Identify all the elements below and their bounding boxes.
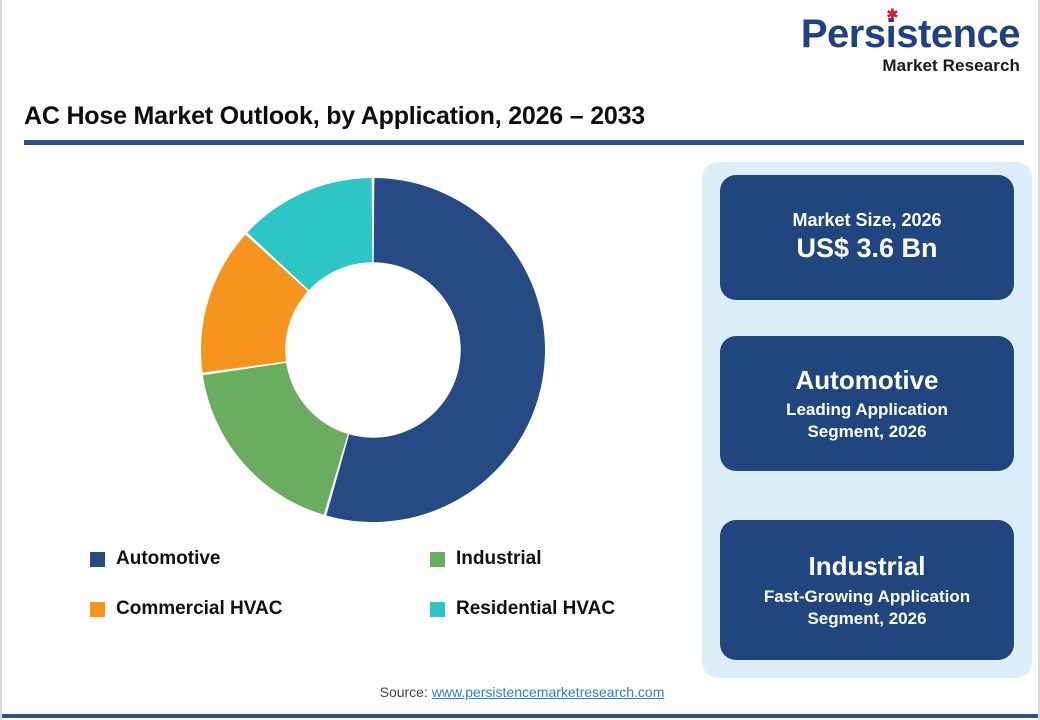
legend-swatch-automotive xyxy=(90,552,105,567)
brand-name-part1: Pers xyxy=(801,12,886,56)
brand-wordmark: Pers✱istence xyxy=(801,14,1020,54)
source-prefix: Source: xyxy=(380,684,432,700)
donut-chart xyxy=(201,178,545,522)
legend-label-residential-hvac: Residential HVAC xyxy=(456,598,615,620)
leading-segment-name: Automotive xyxy=(796,364,939,397)
legend-label-commercial-hvac: Commercial HVAC xyxy=(116,598,282,620)
title-block: AC Hose Market Outlook, by Application, … xyxy=(24,102,1024,145)
fast-growing-segment-sub-line2: Segment, 2026 xyxy=(807,608,926,630)
legend-label-automotive: Automotive xyxy=(116,548,221,570)
source-line: Source: www.persistencemarketresearch.co… xyxy=(2,684,1040,700)
leading-segment-sub-line2: Segment, 2026 xyxy=(807,421,926,443)
fast-growing-segment-sub-line1: Fast-Growing Application xyxy=(764,586,970,608)
chart-legend: Automotive Industrial Commercial HVAC Re… xyxy=(90,548,690,620)
market-size-label: Market Size, 2026 xyxy=(792,209,941,232)
donut-slice-group xyxy=(201,178,545,522)
brand-name-part2: stence xyxy=(896,12,1020,56)
brand-name-letter-i: ✱i xyxy=(886,14,897,54)
legend-item-residential-hvac: Residential HVAC xyxy=(430,598,690,620)
leading-segment-sub-line1: Leading Application xyxy=(786,399,948,421)
stat-card-fast-growing-segment: Industrial Fast-Growing Application Segm… xyxy=(720,520,1014,660)
title-divider xyxy=(24,140,1024,145)
donut-slice-industrial xyxy=(203,363,348,515)
legend-item-industrial: Industrial xyxy=(430,548,690,570)
market-size-value: US$ 3.6 Bn xyxy=(796,231,937,266)
legend-label-industrial: Industrial xyxy=(456,548,542,570)
fast-growing-segment-name: Industrial xyxy=(808,550,925,583)
brand-logo: Pers✱istence Market Research xyxy=(780,14,1020,74)
legend-item-commercial-hvac: Commercial HVAC xyxy=(90,598,430,620)
stat-card-market-size: Market Size, 2026 US$ 3.6 Bn xyxy=(720,175,1014,300)
source-url-link[interactable]: www.persistencemarketresearch.com xyxy=(432,684,665,700)
stat-card-leading-segment: Automotive Leading Application Segment, … xyxy=(720,336,1014,471)
stats-panel: Market Size, 2026 US$ 3.6 Bn Automotive … xyxy=(702,162,1032,678)
page-title: AC Hose Market Outlook, by Application, … xyxy=(24,102,1024,131)
bottom-divider xyxy=(2,714,1040,718)
legend-swatch-residential-hvac xyxy=(430,602,445,617)
legend-item-automotive: Automotive xyxy=(90,548,430,570)
legend-swatch-commercial-hvac xyxy=(90,602,105,617)
donut-chart-area xyxy=(24,160,684,550)
legend-swatch-industrial xyxy=(430,552,445,567)
brand-tagline: Market Research xyxy=(780,57,1020,74)
red-asterisk-icon: ✱ xyxy=(886,10,895,19)
infographic-canvas: Pers✱istence Market Research AC Hose Mar… xyxy=(0,0,1040,720)
